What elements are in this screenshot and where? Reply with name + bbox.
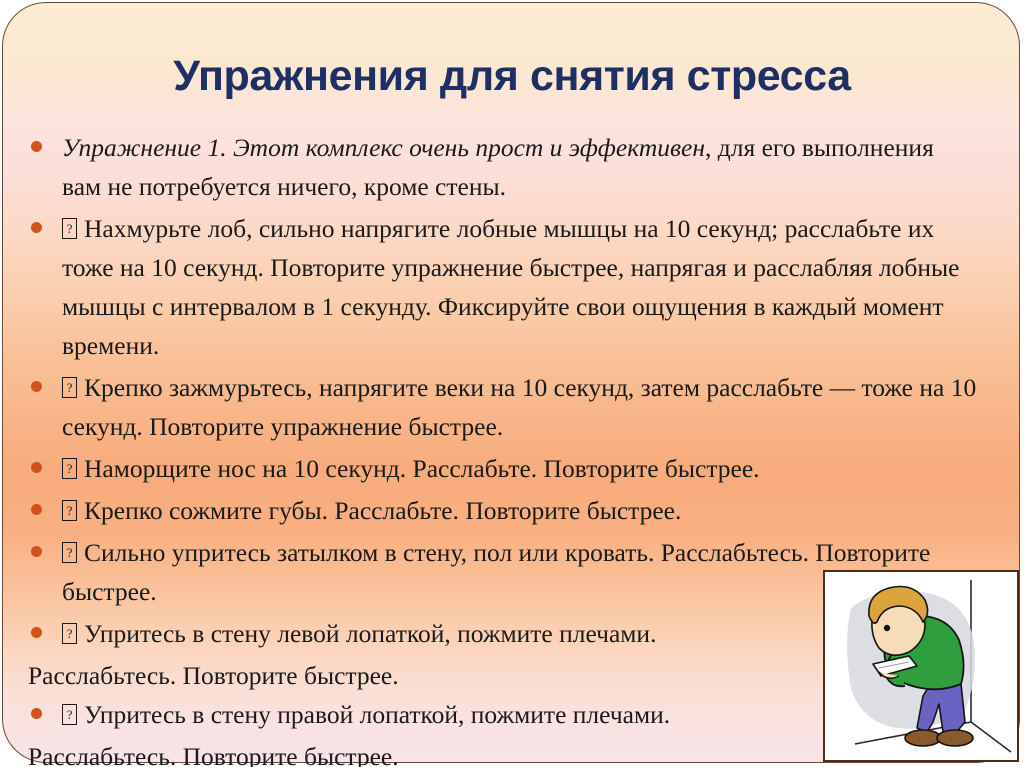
list-item-text: Наморщите нос на 10 секунд. Расслабьте. … [62, 449, 978, 488]
missing-glyph-icon [62, 458, 77, 479]
list-item-text: Упражнение 1. Этот комплекс очень прост … [62, 128, 978, 206]
bullet-dot-icon [31, 504, 42, 515]
list-item-text: Нахмурьте лоб, сильно напрягите лобные м… [62, 209, 978, 365]
bullet-dot-icon [31, 381, 42, 392]
bullet-dot-icon [31, 141, 42, 152]
list-item-body: Нахмурьте лоб, сильно напрягите лобные м… [62, 214, 959, 360]
list-item: Наморщите нос на 10 секунд. Расслабьте. … [0, 449, 1024, 488]
list-item-body: Крепко зажмурьтесь, напрягите веки на 10… [62, 373, 976, 441]
list-item-italic-lead: Упражнение 1. Этот комплекс очень прост … [62, 133, 705, 162]
bullet-dot-icon [31, 708, 42, 719]
list-item: Упражнение 1. Этот комплекс очень прост … [0, 128, 1024, 206]
missing-glyph-icon [62, 704, 77, 725]
illustration-image [823, 570, 1019, 762]
list-item: Нахмурьте лоб, сильно напрягите лобные м… [0, 209, 1024, 365]
missing-glyph-icon [62, 542, 77, 563]
missing-glyph-icon [62, 623, 77, 644]
list-item-body: Упритесь в стену правой лопаткой, пожмит… [84, 700, 670, 729]
list-item-text: Крепко зажмурьтесь, напрягите веки на 10… [62, 368, 978, 446]
page-title: Упражнения для снятия стресса [0, 52, 1024, 101]
list-item-text: Крепко сожмите губы. Расслабьте. Повтори… [62, 491, 978, 530]
list-item: Крепко зажмурьтесь, напрягите веки на 10… [0, 368, 1024, 446]
missing-glyph-icon [62, 377, 77, 398]
bullet-dot-icon [31, 627, 42, 638]
list-item-body: Наморщите нос на 10 секунд. Расслабьте. … [84, 454, 760, 483]
bullet-dot-icon [31, 222, 42, 233]
missing-glyph-icon [62, 500, 77, 521]
list-item-body: Упритесь в стену левой лопаткой, пожмите… [84, 619, 656, 648]
list-item-body: Сильно упритесь затылком в стену, пол ил… [62, 538, 930, 606]
bullet-dot-icon [31, 546, 42, 557]
boy-reading-against-wall-illustration [825, 572, 1016, 759]
list-item: Крепко сожмите губы. Расслабьте. Повтори… [0, 491, 1024, 530]
slide: Упражнения для снятия стресса Упражнение… [0, 0, 1024, 767]
list-item-body: Крепко сожмите губы. Расслабьте. Повтори… [84, 496, 681, 525]
missing-glyph-icon [62, 218, 77, 239]
bullet-dot-icon [31, 462, 42, 473]
